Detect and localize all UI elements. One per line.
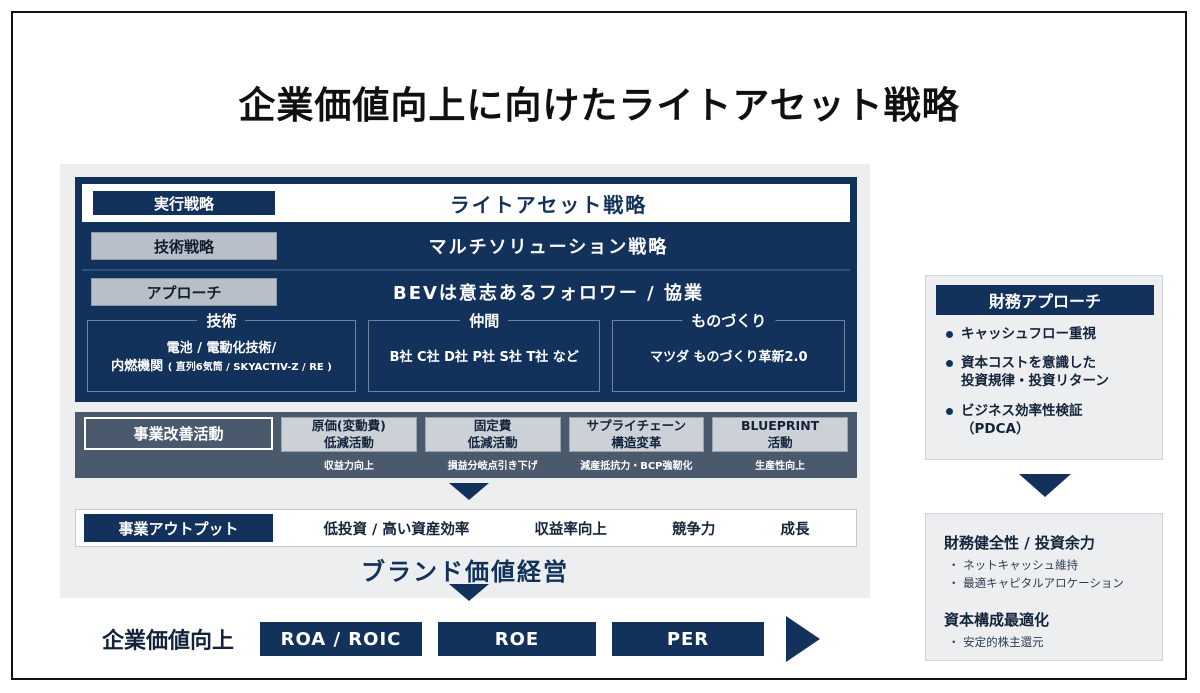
improvement-item-cost: 原価(変動費) 低減活動 収益力向上 bbox=[281, 417, 417, 472]
improvement-box-supplychain: サプライチェーン 構造変革 bbox=[569, 417, 705, 452]
metric-box-roa-roic: ROA / ROIC bbox=[260, 622, 422, 656]
finance-approach-heading: 財務アプローチ bbox=[936, 285, 1154, 315]
finance-bullet-capital-cost-line2: 投資規律・投資リターン bbox=[961, 373, 1109, 389]
pillar-partners: 仲間 B社 C社 D社 P社 S社 T社 など bbox=[368, 320, 601, 392]
brand-value-management-text: ブランド価値経営 bbox=[60, 552, 870, 587]
improvement-box-supplychain-line1: サプライチェーン bbox=[587, 418, 686, 434]
pillar-body-technology: 電池 / 電動化技術/ 内燃機関 ( 直列6気筒 / SKYACTIV-Z / … bbox=[105, 336, 338, 376]
output-item-growth: 成長 bbox=[780, 518, 809, 539]
capital-structure-heading: 資本構成最適化 bbox=[944, 609, 1148, 630]
strategy-row-approach: アプローチ BEVは意志あるフォロワー / 協業 bbox=[82, 274, 850, 310]
finance-bullet-cashflow: キャッシュフロー重視 bbox=[961, 325, 1096, 343]
improvement-band: 事業改善活動 原価(変動費) 低減活動 収益力向上 固定費 低減活動 損益分岐点… bbox=[75, 412, 857, 478]
finance-bullet-efficiency: ビジネス効率性検証 （PDCA） bbox=[961, 402, 1083, 438]
strategy-value-execution: ライトアセット戦略 bbox=[277, 189, 850, 218]
corporate-value-row: 企業価値向上 ROA / ROIC ROE PER bbox=[60, 618, 890, 660]
improvement-item-fixedcost: 固定費 低減活動 損益分岐点引き下げ bbox=[425, 417, 561, 472]
pillar-body-partners: B社 C社 D社 P社 S社 T社 など bbox=[384, 345, 585, 367]
finance-bullet-capital-cost: 資本コストを意識した 投資規律・投資リターン bbox=[961, 354, 1109, 390]
metric-box-roe: ROE bbox=[438, 622, 596, 656]
strategy-value-approach: BEVは意志あるフォロワー / 協業 bbox=[277, 279, 850, 305]
financial-health-sub-allocation: ・ 最適キャピタルアロケーション bbox=[944, 575, 1148, 593]
spacer bbox=[944, 593, 1148, 609]
page-title: 企業価値向上に向けたライトアセット戦略 bbox=[13, 75, 1185, 129]
pillar-technology-line1: 電池 / 電動化技術/ bbox=[111, 340, 332, 358]
business-output-row: 事業アウトプット 低投資 / 高い資産効率 収益率向上 競争力 成長 bbox=[75, 509, 857, 547]
arrow-down-icon-to-output bbox=[449, 483, 489, 500]
arrow-down-icon-finance bbox=[1019, 474, 1071, 497]
pillar-technology-line2-detail: ( 直列6気筒 / SKYACTIV-Z / RE ) bbox=[168, 362, 332, 373]
pillar-technology-line2: 内燃機関 ( 直列6気筒 / SKYACTIV-Z / RE ) bbox=[111, 358, 332, 376]
improvement-item-blueprint: BLUEPRINT 活動 生産性向上 bbox=[712, 417, 848, 472]
pillar-title-monozukuri: ものづくり bbox=[682, 310, 775, 331]
arrow-down-icon-to-metrics bbox=[449, 584, 489, 601]
pillar-technology: 技術 電池 / 電動化技術/ 内燃機関 ( 直列6気筒 / SKYACTIV-Z… bbox=[87, 320, 356, 392]
strategy-label-approach: アプローチ bbox=[91, 278, 277, 306]
pillar-monozukuri: ものづくり マツダ ものづくり革新2.0 bbox=[612, 320, 845, 392]
strategy-row-execution: 実行戦略 ライトアセット戦略 bbox=[82, 184, 850, 222]
output-item-competitiveness: 競争力 bbox=[672, 518, 716, 539]
improvement-box-blueprint-line2: 活動 bbox=[768, 435, 793, 451]
strategy-label-technology: 技術戦略 bbox=[91, 232, 277, 260]
financial-health-sub-netcash: ・ ネットキャッシュ維持 bbox=[944, 557, 1148, 575]
bullet-icon bbox=[946, 408, 953, 415]
improvement-box-cost: 原価(変動費) 低減活動 bbox=[281, 417, 417, 452]
pillar-technology-line2-main: 内燃機関 bbox=[111, 359, 163, 374]
strategy-navy-block: 実行戦略 ライトアセット戦略 技術戦略 マルチソリューション戦略 アプローチ B… bbox=[75, 177, 857, 402]
improvement-label: 事業改善活動 bbox=[84, 417, 273, 450]
bullet-icon bbox=[946, 331, 953, 338]
improvement-box-blueprint: BLUEPRINT 活動 bbox=[712, 417, 848, 452]
finance-approach-list: キャッシュフロー重視 資本コストを意識した 投資規律・投資リターン ビジネス効率… bbox=[946, 325, 1154, 449]
list-item: キャッシュフロー重視 bbox=[946, 325, 1154, 343]
strategy-label-execution: 実行戦略 bbox=[91, 189, 277, 217]
corporate-value-title: 企業価値向上 bbox=[60, 623, 260, 655]
financial-health-panel: 財務健全性 / 投資余力 ・ ネットキャッシュ維持 ・ 最適キャピタルアロケーシ… bbox=[925, 513, 1163, 661]
list-item: ビジネス効率性検証 （PDCA） bbox=[946, 402, 1154, 438]
output-item-low-investment: 低投資 / 高い資産効率 bbox=[324, 518, 470, 539]
improvement-item-supplychain: サプライチェーン 構造変革 減産抵抗力・BCP強靭化 bbox=[569, 417, 705, 472]
pillar-body-monozukuri: マツダ ものづくり革新2.0 bbox=[644, 345, 814, 367]
improvement-caption-fixedcost: 損益分岐点引き下げ bbox=[425, 457, 561, 472]
improvement-caption-cost: 収益力向上 bbox=[281, 457, 417, 472]
list-item: 資本コストを意識した 投資規律・投資リターン bbox=[946, 354, 1154, 390]
improvement-box-fixedcost: 固定費 低減活動 bbox=[425, 417, 561, 452]
bullet-icon bbox=[946, 360, 953, 367]
improvement-caption-supplychain: 減産抵抗力・BCP強靭化 bbox=[569, 457, 705, 472]
pillars-group: 技術 電池 / 電動化技術/ 内燃機関 ( 直列6気筒 / SKYACTIV-Z… bbox=[87, 320, 845, 392]
strategy-main-panel: 実行戦略 ライトアセット戦略 技術戦略 マルチソリューション戦略 アプローチ B… bbox=[60, 164, 870, 598]
pillar-title-partners: 仲間 bbox=[460, 310, 508, 331]
strategy-row-technology: 技術戦略 マルチソリューション戦略 bbox=[82, 228, 850, 264]
capital-structure-sub-shareholder: ・ 安定的株主還元 bbox=[944, 634, 1148, 652]
divider-line bbox=[82, 269, 850, 271]
finance-approach-panel: 財務アプローチ キャッシュフロー重視 資本コストを意識した 投資規律・投資リター… bbox=[925, 275, 1163, 460]
improvement-box-blueprint-line1: BLUEPRINT bbox=[741, 418, 819, 434]
improvement-caption-blueprint: 生産性向上 bbox=[712, 457, 848, 472]
pillar-title-technology: 技術 bbox=[197, 310, 245, 331]
finance-bullet-efficiency-line2: （PDCA） bbox=[961, 421, 1029, 437]
improvement-box-fixedcost-line2: 低減活動 bbox=[468, 435, 518, 451]
improvement-box-fixedcost-line1: 固定費 bbox=[474, 418, 512, 434]
finance-bullet-efficiency-line1: ビジネス効率性検証 bbox=[961, 403, 1083, 419]
slide-frame: 企業価値向上に向けたライトアセット戦略 実行戦略 ライトアセット戦略 技術戦略 … bbox=[11, 11, 1187, 680]
finance-bullet-capital-cost-line1: 資本コストを意識した bbox=[961, 355, 1096, 371]
business-output-label: 事業アウトプット bbox=[84, 514, 273, 542]
metric-box-per: PER bbox=[612, 622, 764, 656]
improvement-box-supplychain-line2: 構造変革 bbox=[611, 435, 661, 451]
output-item-profitability: 収益率向上 bbox=[534, 518, 607, 539]
improvement-inner: 事業改善活動 原価(変動費) 低減活動 収益力向上 固定費 低減活動 損益分岐点… bbox=[84, 417, 848, 472]
improvement-box-cost-line2: 低減活動 bbox=[324, 435, 374, 451]
improvement-box-cost-line1: 原価(変動費) bbox=[312, 418, 386, 434]
business-output-items: 低投資 / 高い資産効率 収益率向上 競争力 成長 bbox=[273, 518, 856, 539]
strategy-value-technology: マルチソリューション戦略 bbox=[277, 233, 850, 259]
arrow-right-icon bbox=[786, 616, 820, 662]
financial-health-heading: 財務健全性 / 投資余力 bbox=[944, 532, 1148, 553]
